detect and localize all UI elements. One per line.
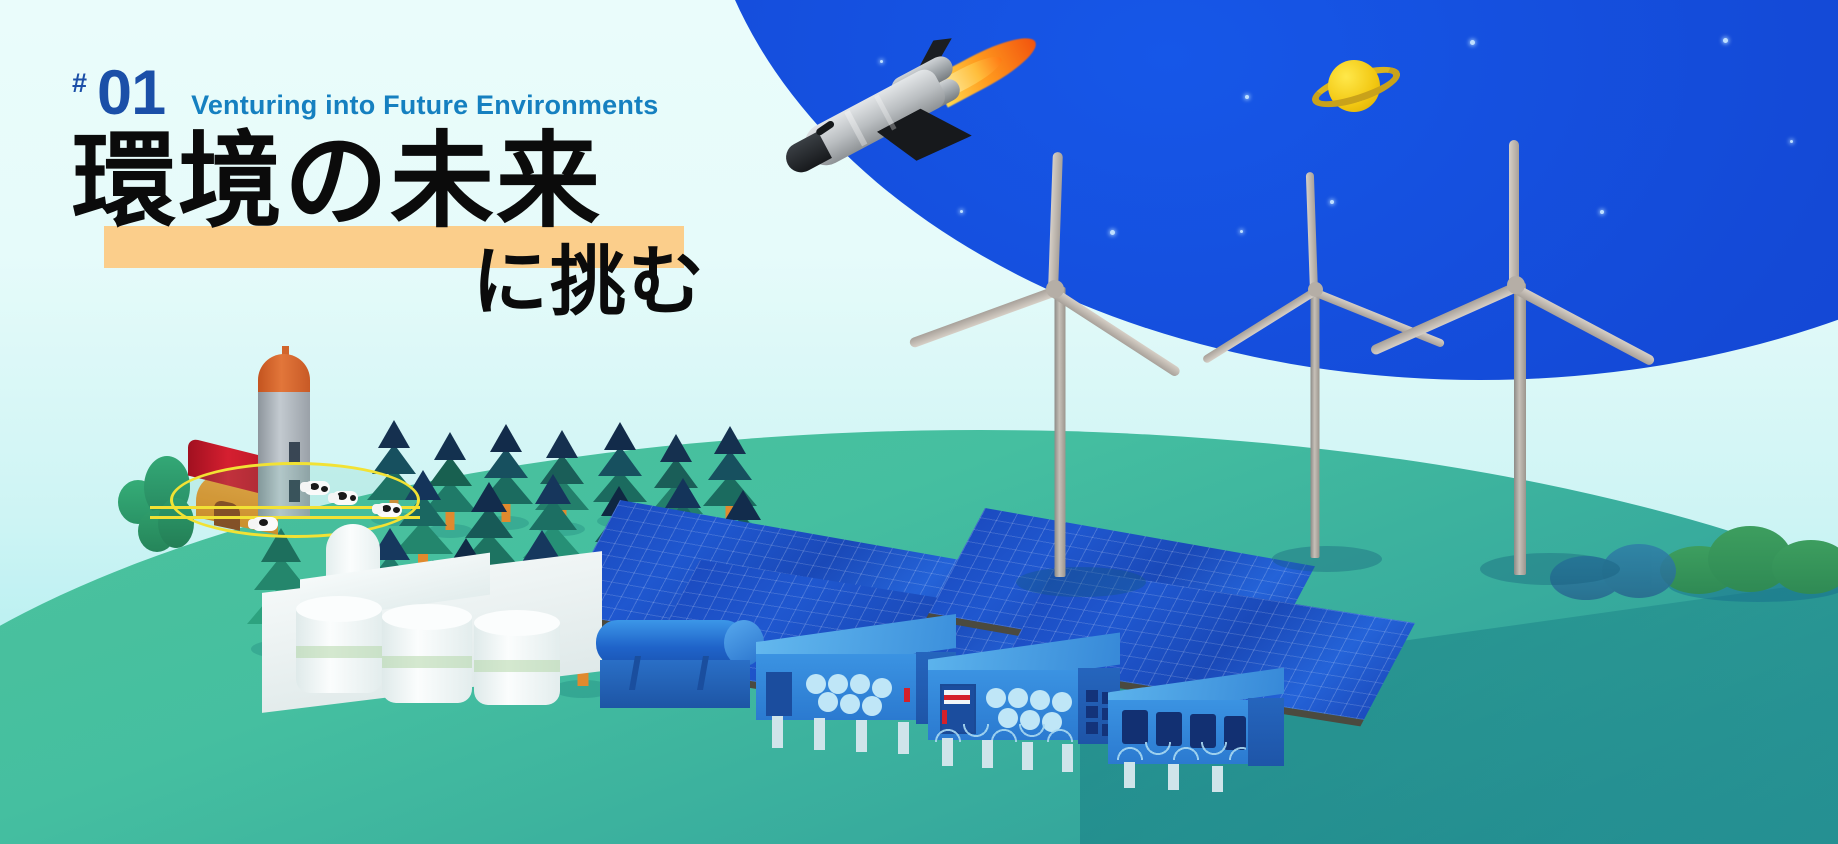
tree-canopy bbox=[708, 450, 752, 480]
building-leg bbox=[856, 720, 867, 752]
silo-window bbox=[289, 442, 300, 464]
tree-canopy bbox=[535, 474, 571, 504]
cow-spot bbox=[321, 486, 328, 492]
building-tank-circle bbox=[1052, 692, 1072, 712]
tree-canopy bbox=[604, 422, 636, 450]
tree-canopy bbox=[725, 490, 761, 520]
hero-banner: # 01 Venturing into Future Environments … bbox=[0, 0, 1838, 844]
hash-symbol: # bbox=[72, 68, 87, 99]
tree-canopy bbox=[471, 482, 507, 512]
tank-top bbox=[474, 610, 560, 636]
english-subtitle: Venturing into Future Environments bbox=[191, 90, 658, 121]
turbine-blade bbox=[1369, 283, 1516, 356]
tree-canopy bbox=[434, 432, 466, 460]
star-icon bbox=[880, 60, 883, 63]
building-leg bbox=[898, 722, 909, 754]
cow-spot bbox=[259, 519, 268, 526]
building-leg bbox=[982, 740, 993, 768]
building-tank-circle bbox=[1030, 690, 1050, 710]
storage-tank bbox=[296, 596, 382, 692]
building-module bbox=[1156, 712, 1182, 746]
building-leg bbox=[942, 738, 953, 766]
panel-indicator bbox=[942, 710, 947, 724]
storage-tank bbox=[474, 610, 560, 704]
building-vent-grill bbox=[1086, 722, 1098, 734]
japanese-title-line2: に挑む bbox=[472, 242, 706, 322]
storage-tank bbox=[382, 604, 472, 702]
turbine-mast bbox=[1514, 283, 1526, 575]
building-tank-circle bbox=[806, 674, 826, 694]
star-icon bbox=[1790, 140, 1793, 143]
turbine-blade bbox=[1050, 288, 1181, 378]
building-leg bbox=[1124, 762, 1135, 788]
turbine-shadow bbox=[1480, 553, 1620, 585]
japanese-title-wrap: 環境の未来 に挑む bbox=[72, 127, 706, 322]
building-tank-circle bbox=[862, 696, 882, 716]
building-vent-grill bbox=[1086, 706, 1098, 718]
building-tank-circle bbox=[818, 692, 838, 712]
tank-top bbox=[382, 604, 472, 630]
building-tank-circle bbox=[828, 674, 848, 694]
tree-canopy bbox=[660, 434, 692, 462]
tree-canopy bbox=[490, 424, 522, 452]
building-door bbox=[766, 672, 792, 716]
panel-indicator bbox=[944, 695, 970, 700]
cow-spot bbox=[310, 483, 319, 490]
wind-turbine bbox=[920, 175, 1200, 595]
building-leg bbox=[772, 716, 783, 748]
wind-turbine bbox=[1370, 165, 1670, 585]
cow-head bbox=[328, 493, 339, 503]
japanese-title-line1: 環境の未来 bbox=[72, 127, 706, 236]
building-leg bbox=[1212, 766, 1223, 792]
building-leg bbox=[1022, 742, 1033, 770]
building-leg bbox=[1062, 744, 1073, 772]
industrial-building bbox=[928, 646, 1120, 766]
tank-top bbox=[296, 596, 382, 622]
building-wave-trim bbox=[1116, 742, 1246, 760]
blue-fuel-tank bbox=[596, 616, 764, 716]
turbine-mast bbox=[1055, 287, 1066, 577]
cow-head bbox=[300, 482, 311, 492]
building-leg bbox=[1168, 764, 1179, 790]
industrial-building bbox=[1108, 680, 1284, 788]
building-vent-grill bbox=[1086, 690, 1098, 702]
tree-canopy bbox=[598, 446, 642, 476]
tank-band bbox=[296, 646, 382, 658]
building-tank-circle bbox=[1008, 688, 1028, 708]
cow-head bbox=[248, 519, 259, 529]
hero-text-block: # 01 Venturing into Future Environments … bbox=[72, 62, 706, 322]
cow-spot bbox=[350, 495, 356, 501]
turbine-shadow bbox=[1016, 567, 1146, 597]
fuel-tank-base bbox=[600, 660, 750, 708]
star-icon bbox=[1470, 40, 1475, 45]
cow-spot bbox=[382, 505, 391, 512]
building-side bbox=[1248, 698, 1284, 766]
turbine-blade bbox=[1202, 289, 1316, 365]
tree-canopy bbox=[714, 426, 746, 454]
turbine-hub bbox=[1308, 282, 1323, 297]
tree-canopy bbox=[378, 420, 410, 448]
turbine-blade bbox=[1512, 284, 1656, 367]
turbine-hub bbox=[1046, 280, 1064, 298]
star-icon bbox=[1245, 95, 1249, 99]
building-leg bbox=[814, 718, 825, 750]
building-tank-circle bbox=[986, 688, 1006, 708]
turbine-blade bbox=[1509, 140, 1519, 288]
turbine-hub bbox=[1507, 276, 1525, 294]
status-indicator bbox=[904, 688, 910, 702]
cow bbox=[372, 500, 410, 520]
section-number: 01 bbox=[97, 62, 165, 125]
building-tank-circle bbox=[840, 694, 860, 714]
tree-canopy bbox=[546, 430, 578, 458]
saturn-planet bbox=[1310, 50, 1402, 124]
industrial-building bbox=[756, 628, 956, 748]
turbine-shadow bbox=[1272, 546, 1382, 572]
cow-spot bbox=[393, 507, 400, 513]
star-icon bbox=[1723, 38, 1728, 43]
turbine-mast bbox=[1311, 286, 1320, 558]
star-icon bbox=[1240, 230, 1243, 233]
star-icon bbox=[1330, 200, 1334, 204]
tree-canopy bbox=[665, 478, 701, 508]
tank-band bbox=[382, 656, 472, 668]
cow-head bbox=[372, 504, 383, 514]
eyebrow-row: # 01 Venturing into Future Environments bbox=[72, 62, 706, 125]
building-wave-trim bbox=[934, 724, 1074, 742]
cow bbox=[248, 514, 286, 534]
turbine-blade bbox=[908, 287, 1054, 348]
cow bbox=[328, 488, 366, 508]
building-tank-circle bbox=[872, 678, 892, 698]
building-tank-circle bbox=[850, 674, 870, 694]
building-module bbox=[1122, 710, 1148, 744]
tank-band bbox=[474, 660, 560, 672]
